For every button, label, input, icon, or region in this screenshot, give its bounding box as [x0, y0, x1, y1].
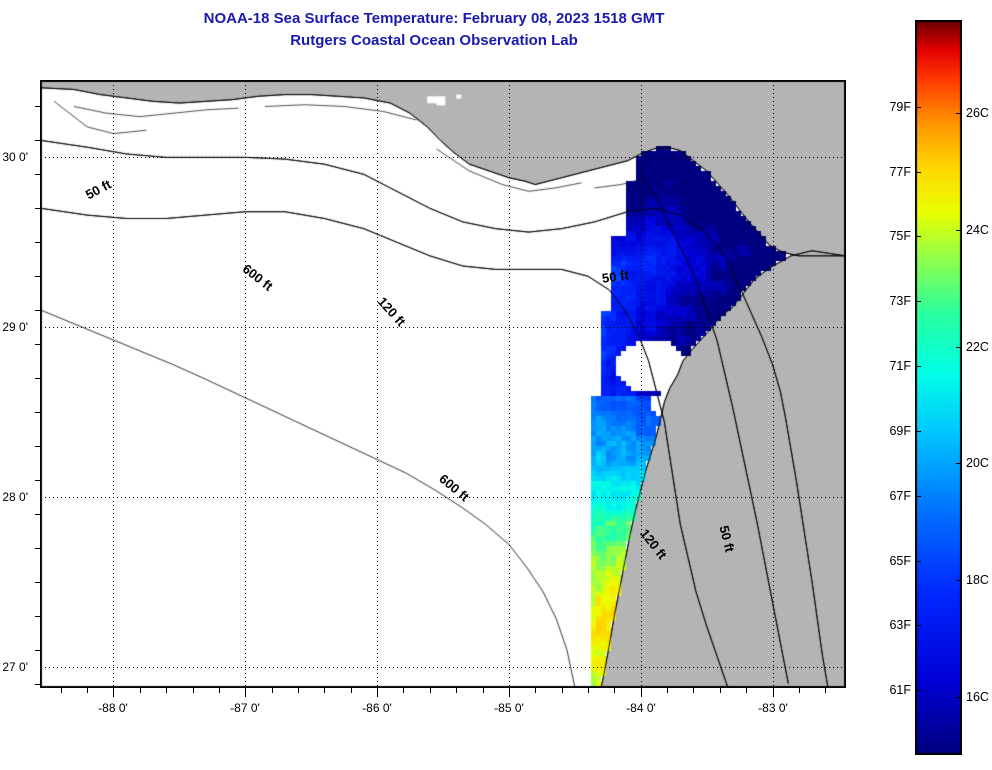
colorbar-tick-c	[956, 463, 962, 464]
graticule-meridian	[113, 81, 114, 687]
x-axis-tick	[614, 688, 615, 693]
y-axis-label: 27 0'	[0, 660, 28, 674]
graticule-parallel	[41, 667, 845, 668]
y-axis-tick	[35, 514, 40, 515]
y-axis-label: 28 0'	[0, 490, 28, 504]
y-axis-tick	[35, 276, 40, 277]
colorbar-tick-f	[915, 496, 921, 497]
x-axis-tick	[351, 688, 352, 693]
colorbar-label-fahrenheit: 77F	[867, 165, 911, 179]
graticule-parallel	[41, 327, 845, 328]
graticule-meridian	[509, 81, 510, 687]
x-axis-tick	[166, 688, 167, 693]
graticule-parallel	[41, 497, 845, 498]
y-axis-tick	[35, 242, 40, 243]
colorbar-tick-f	[915, 301, 921, 302]
y-axis-tick	[35, 616, 40, 617]
colorbar-tick-c	[956, 580, 962, 581]
colorbar-label-fahrenheit: 65F	[867, 554, 911, 568]
x-axis-tick	[193, 688, 194, 693]
x-axis-label: -83 0'	[758, 701, 788, 715]
title-line-1: NOAA-18 Sea Surface Temperature: Februar…	[0, 8, 868, 30]
graticule-meridian	[641, 81, 642, 687]
y-axis-tick	[35, 582, 40, 583]
x-axis-tick	[272, 688, 273, 693]
colorbar-label-fahrenheit: 75F	[867, 229, 911, 243]
colorbar-label-celsius: 22C	[966, 340, 989, 354]
y-axis-tick	[35, 480, 40, 481]
y-axis-label: 30 0'	[0, 150, 28, 164]
title-line-2: Rutgers Coastal Ocean Observation Lab	[0, 30, 868, 52]
x-axis-tick	[773, 688, 774, 697]
x-axis-tick	[140, 688, 141, 693]
chart-title-block: NOAA-18 Sea Surface Temperature: Februar…	[0, 8, 868, 52]
y-axis-tick	[35, 344, 40, 345]
x-axis-label: -86 0'	[362, 701, 392, 715]
x-axis-tick	[746, 688, 747, 693]
colorbar-tick-f	[915, 107, 921, 108]
x-axis-tick	[456, 688, 457, 693]
colorbar-label-celsius: 20C	[966, 456, 989, 470]
y-axis-tick	[35, 310, 40, 311]
x-axis-tick	[667, 688, 668, 693]
y-axis-tick	[35, 650, 40, 651]
colorbar-tick-f	[915, 625, 921, 626]
x-axis-tick	[562, 688, 563, 693]
colorbar[interactable]	[915, 20, 962, 755]
x-axis-tick	[430, 688, 431, 693]
colorbar-label-fahrenheit: 73F	[867, 294, 911, 308]
colorbar-label-fahrenheit: 71F	[867, 359, 911, 373]
y-axis-tick	[35, 684, 40, 685]
colorbar-label-fahrenheit: 69F	[867, 424, 911, 438]
colorbar-tick-f	[915, 366, 921, 367]
graticule-meridian	[245, 81, 246, 687]
colorbar-label-celsius: 18C	[966, 573, 989, 587]
y-axis-tick	[35, 548, 40, 549]
colorbar-tick-c	[956, 230, 962, 231]
x-axis-tick	[693, 688, 694, 693]
y-axis-tick	[35, 446, 40, 447]
colorbar-label-fahrenheit: 63F	[867, 618, 911, 632]
x-axis-label: -84 0'	[626, 701, 656, 715]
y-axis-tick	[35, 412, 40, 413]
colorbar-tick-f	[915, 561, 921, 562]
graticule-meridian	[377, 81, 378, 687]
y-axis-label: 29 0'	[0, 320, 28, 334]
colorbar-label-celsius: 26C	[966, 106, 989, 120]
x-axis-tick	[87, 688, 88, 693]
x-axis-label: -85 0'	[494, 701, 524, 715]
x-axis-tick	[720, 688, 721, 693]
x-axis-tick	[403, 688, 404, 693]
x-axis-tick	[588, 688, 589, 693]
colorbar-gradient[interactable]	[915, 20, 962, 755]
x-axis-label: -87 0'	[230, 701, 260, 715]
x-axis-tick	[324, 688, 325, 693]
colorbar-label-celsius: 24C	[966, 223, 989, 237]
colorbar-label-fahrenheit: 61F	[867, 683, 911, 697]
y-axis-tick	[35, 174, 40, 175]
x-axis-tick	[641, 688, 642, 697]
colorbar-tick-f	[915, 431, 921, 432]
x-axis-label: -88 0'	[98, 701, 128, 715]
x-axis-tick	[509, 688, 510, 697]
x-axis-tick	[825, 688, 826, 693]
x-axis-tick	[61, 688, 62, 693]
x-axis-tick	[219, 688, 220, 693]
graticule-parallel	[41, 157, 845, 158]
colorbar-tick-c	[956, 113, 962, 114]
graticule-meridian	[773, 81, 774, 687]
map-frame[interactable]: 50 ft600 ft120 ft50 ft600 ft120 ft50 ft	[40, 80, 846, 688]
y-axis-tick	[35, 106, 40, 107]
colorbar-tick-f	[915, 690, 921, 691]
colorbar-tick-c	[956, 347, 962, 348]
colorbar-tick-f	[915, 172, 921, 173]
sst-map-canvas[interactable]	[41, 81, 845, 687]
x-axis-tick	[298, 688, 299, 693]
x-axis-tick	[377, 688, 378, 697]
colorbar-tick-f	[915, 236, 921, 237]
x-axis-tick	[483, 688, 484, 693]
colorbar-label-fahrenheit: 79F	[867, 100, 911, 114]
x-axis-tick	[245, 688, 246, 697]
y-axis-tick	[35, 378, 40, 379]
y-axis-tick	[35, 208, 40, 209]
colorbar-label-celsius: 16C	[966, 690, 989, 704]
x-axis-tick	[113, 688, 114, 697]
y-axis-tick	[35, 140, 40, 141]
x-axis-tick	[799, 688, 800, 693]
x-axis-tick	[535, 688, 536, 693]
colorbar-label-fahrenheit: 67F	[867, 489, 911, 503]
colorbar-tick-c	[956, 697, 962, 698]
